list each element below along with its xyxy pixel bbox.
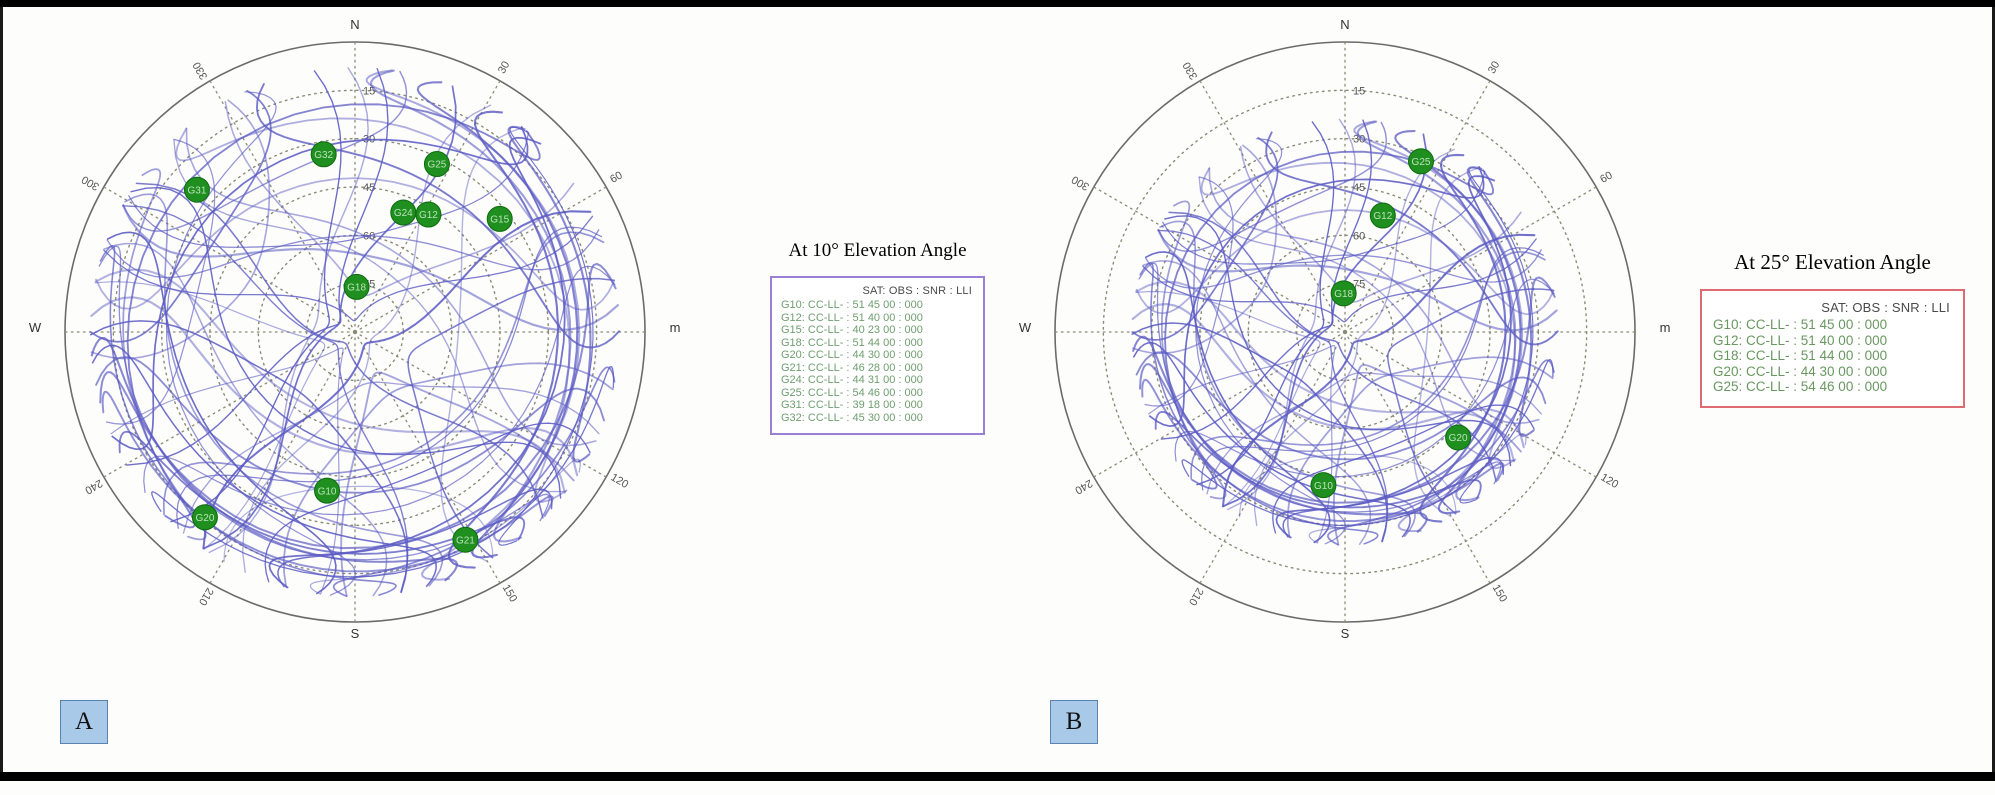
cardinal-west-b: W xyxy=(1013,320,1037,335)
legend-b-header: SAT: OBS : SNR : LLI xyxy=(1713,300,1952,315)
panel-label-b: B xyxy=(1050,700,1098,744)
cardinal-east-a: m xyxy=(663,320,687,335)
svg-text:G20: G20 xyxy=(195,513,214,524)
svg-text:240: 240 xyxy=(1073,477,1095,497)
satellite-marker: G20 xyxy=(192,505,217,530)
cardinal-east-b: m xyxy=(1653,320,1677,335)
svg-text:G21: G21 xyxy=(456,535,475,546)
svg-text:60: 60 xyxy=(608,169,625,186)
svg-text:60: 60 xyxy=(1353,230,1365,242)
satellite-marker: G31 xyxy=(184,177,209,202)
legend-b-rows: G10: CC-LL- : 51 45 00 : 000G12: CC-LL- … xyxy=(1713,317,1952,395)
skyplot-a-svg: 15304560753060120150210240300330G32G25G3… xyxy=(45,22,665,642)
left-frame-border xyxy=(0,7,3,772)
legend-row: G20: CC-LL- : 44 30 00 : 000 xyxy=(1713,364,1952,380)
satellite-marker: G20 xyxy=(1446,425,1471,450)
legend-row: G32: CC-LL- : 45 30 00 : 000 xyxy=(781,412,974,425)
svg-text:G25: G25 xyxy=(427,160,446,171)
legend-a: At 10° Elevation Angle SAT: OBS : SNR : … xyxy=(770,240,985,435)
svg-text:330: 330 xyxy=(1181,60,1201,82)
svg-text:300: 300 xyxy=(80,173,102,193)
legend-a-box: SAT: OBS : SNR : LLI G10: CC-LL- : 51 45… xyxy=(770,276,985,435)
cardinal-west-a: W xyxy=(23,320,47,335)
svg-text:G10: G10 xyxy=(318,486,337,497)
satellite-marker: G10 xyxy=(1311,473,1336,498)
svg-text:G18: G18 xyxy=(347,283,366,294)
legend-row: G12: CC-LL- : 51 40 00 : 000 xyxy=(1713,333,1952,349)
panel-b: 15304560753060120150210240300330G25G12G1… xyxy=(1000,12,1760,752)
satellite-marker: G12 xyxy=(1370,203,1395,228)
svg-text:G10: G10 xyxy=(1314,481,1333,492)
svg-text:300: 300 xyxy=(1070,173,1092,193)
satellite-marker: G25 xyxy=(424,152,449,177)
legend-row: G24: CC-LL- : 44 31 00 : 000 xyxy=(781,374,974,387)
satellite-marker: G10 xyxy=(315,478,340,503)
legend-a-title: At 10° Elevation Angle xyxy=(770,240,985,262)
legend-a-header: SAT: OBS : SNR : LLI xyxy=(781,285,974,297)
svg-text:G12: G12 xyxy=(419,210,438,221)
legend-row: G31: CC-LL- : 39 18 00 : 000 xyxy=(781,399,974,412)
satellite-marker: G24 xyxy=(391,200,416,225)
skyplot-b: 15304560753060120150210240300330G25G12G1… xyxy=(1035,22,1655,642)
skyplot-b-svg: 15304560753060120150210240300330G25G12G1… xyxy=(1035,22,1655,642)
legend-row: G18: CC-LL- : 51 44 00 : 000 xyxy=(1713,348,1952,364)
cardinal-north-b: N xyxy=(1333,17,1357,32)
legend-row: G12: CC-LL- : 51 40 00 : 000 xyxy=(781,312,974,325)
svg-text:G31: G31 xyxy=(188,185,207,196)
legend-row: G10: CC-LL- : 51 45 00 : 000 xyxy=(1713,317,1952,333)
legend-b-box: SAT: OBS : SNR : LLI G10: CC-LL- : 51 45… xyxy=(1700,289,1965,408)
svg-text:30: 30 xyxy=(1486,59,1503,76)
svg-text:30: 30 xyxy=(496,59,513,76)
svg-text:120: 120 xyxy=(1598,471,1620,491)
cardinal-south-a: S xyxy=(343,626,367,641)
legend-row: G25: CC-LL- : 54 46 00 : 000 xyxy=(781,387,974,400)
top-rule xyxy=(0,0,1995,7)
svg-text:240: 240 xyxy=(83,477,105,497)
satellite-marker: G25 xyxy=(1409,149,1434,174)
satellite-marker: G18 xyxy=(1331,281,1356,306)
cardinal-north-a: N xyxy=(343,17,367,32)
legend-b: At 25° Elevation Angle SAT: OBS : SNR : … xyxy=(1700,250,1965,408)
satellite-marker: G21 xyxy=(453,527,478,552)
legend-row: G10: CC-LL- : 51 45 00 : 000 xyxy=(781,299,974,312)
bottom-rule xyxy=(0,772,1995,781)
legend-row: G18: CC-LL- : 51 44 00 : 000 xyxy=(781,337,974,350)
svg-text:120: 120 xyxy=(608,471,630,491)
svg-text:150: 150 xyxy=(500,582,520,604)
svg-text:G12: G12 xyxy=(1373,211,1392,222)
legend-row: G25: CC-LL- : 54 46 00 : 000 xyxy=(1713,379,1952,395)
cardinal-south-b: S xyxy=(1333,626,1357,641)
satellite-marker: G32 xyxy=(311,142,336,167)
svg-text:210: 210 xyxy=(1186,585,1206,607)
svg-text:150: 150 xyxy=(1490,582,1510,604)
legend-row: G20: CC-LL- : 44 30 00 : 000 xyxy=(781,349,974,362)
svg-text:210: 210 xyxy=(196,585,216,607)
panel-a: 15304560753060120150210240300330G32G25G3… xyxy=(10,12,770,752)
legend-row: G15: CC-LL- : 40 23 00 : 000 xyxy=(781,324,974,337)
svg-text:G25: G25 xyxy=(1412,157,1431,168)
legend-b-title: At 25° Elevation Angle xyxy=(1700,250,1965,275)
satellite-marker: G18 xyxy=(344,274,369,299)
figure-canvas: 15304560753060120150210240300330G32G25G3… xyxy=(0,0,1995,795)
svg-text:G18: G18 xyxy=(1334,289,1353,300)
svg-text:60: 60 xyxy=(1598,169,1615,186)
svg-text:45: 45 xyxy=(1353,182,1365,194)
panel-label-a: A xyxy=(60,700,108,744)
satellite-marker: G15 xyxy=(487,206,512,231)
svg-text:G32: G32 xyxy=(314,150,333,161)
svg-text:330: 330 xyxy=(191,60,211,82)
svg-text:G24: G24 xyxy=(394,208,413,219)
legend-a-rows: G10: CC-LL- : 51 45 00 : 000G12: CC-LL- … xyxy=(781,299,974,424)
svg-text:15: 15 xyxy=(1353,85,1365,97)
skyplot-a: 15304560753060120150210240300330G32G25G3… xyxy=(45,22,665,642)
satellite-marker: G12 xyxy=(416,202,441,227)
svg-text:G20: G20 xyxy=(1449,433,1468,444)
legend-row: G21: CC-LL- : 46 28 00 : 000 xyxy=(781,362,974,375)
svg-text:G15: G15 xyxy=(490,215,509,226)
